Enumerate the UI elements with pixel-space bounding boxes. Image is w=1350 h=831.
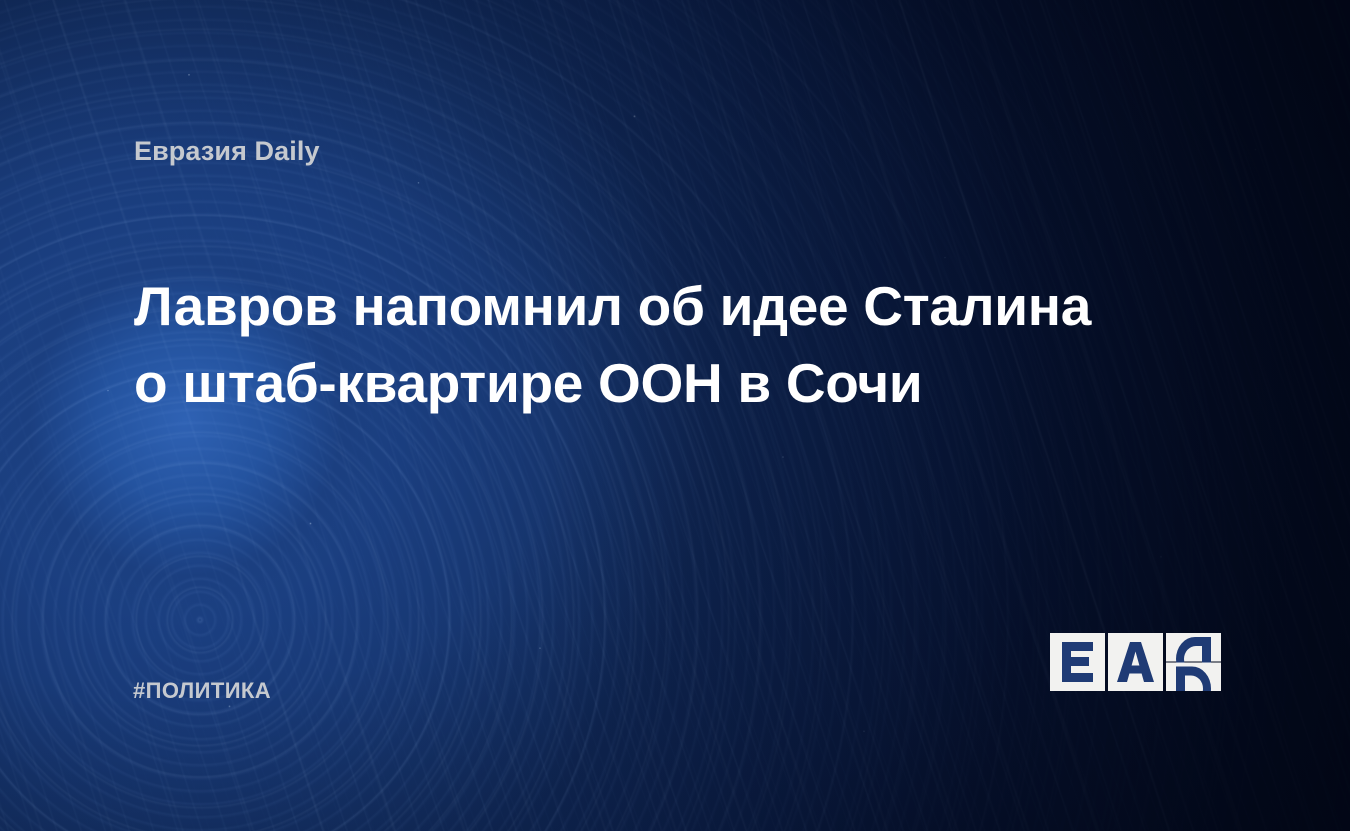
eadaily-logo[interactable] xyxy=(1050,633,1221,691)
logo-tile-letter-a xyxy=(1108,633,1163,691)
logo-tile-split-d-mark xyxy=(1166,633,1221,691)
page-title: Лавров напомнил об идее Сталина о штаб-к… xyxy=(134,268,1114,422)
headline-line-2: о штаб-квартире ООН в Сочи xyxy=(134,345,1114,422)
logo-tile-letter-e xyxy=(1050,633,1105,691)
card-content: Евразия Daily Лавров напомнил об идее Ст… xyxy=(0,0,1350,831)
headline-line-1: Лавров напомнил об идее Сталина xyxy=(134,268,1114,345)
category-hashtag[interactable]: #ПОЛИТИКА xyxy=(133,678,271,704)
news-card: Евразия Daily Лавров напомнил об идее Ст… xyxy=(0,0,1350,831)
brand-name: Евразия Daily xyxy=(134,136,320,167)
